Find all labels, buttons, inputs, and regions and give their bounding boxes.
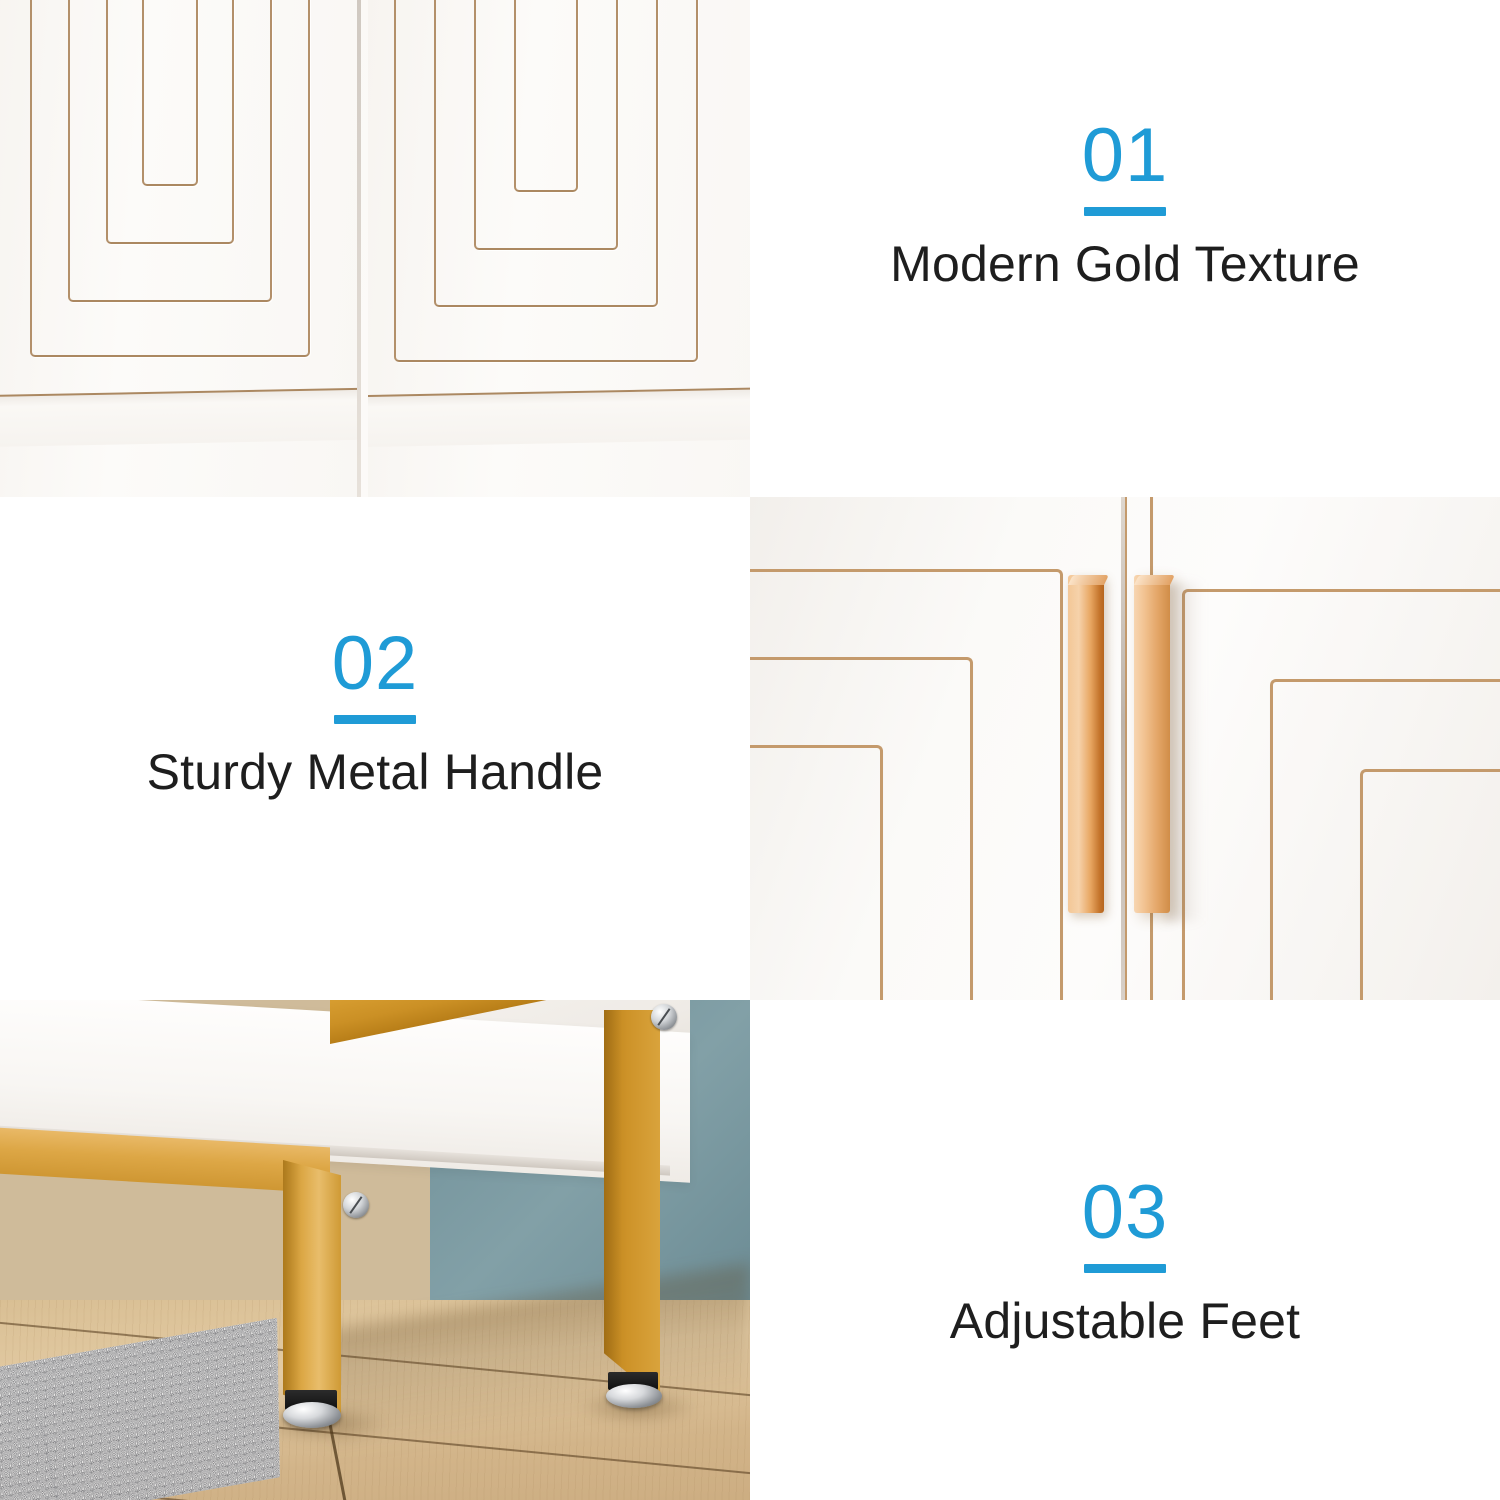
feature-number-03-wrap: 03 [1082,1175,1169,1273]
feature-number-underline [1084,207,1167,216]
feature-number-03: 03 [1082,1175,1169,1251]
door-center-seam [1121,497,1125,1000]
door-center-seam [357,0,361,497]
feature-number-02-wrap: 02 [332,626,419,724]
handle-cast-shadow [1165,583,1203,921]
feature-number-02: 02 [332,626,419,702]
leg-screw-front [343,1192,369,1218]
cabinet-door-left [0,0,358,497]
handle-scene [750,497,1500,1000]
photo-adjustable-feet [0,1000,750,1500]
feature-number-01: 01 [1082,118,1169,194]
leg-screw-back [651,1004,677,1030]
metal-handle-right [1134,575,1170,913]
door-bottom-rail [368,387,750,447]
caption-block-02: 02 Sturdy Metal Handle [0,497,750,1000]
adjustable-foot-back [606,1384,662,1408]
caption-block-03: 03 Adjustable Feet [750,1000,1500,1500]
feature-number-underline [334,715,417,724]
feature-number-01-wrap: 01 [1082,118,1169,216]
feature-title-03: Adjustable Feet [750,1293,1500,1351]
photo-sturdy-metal-handle [750,497,1500,1000]
infographic-page: 01 Modern Gold Texture 02 Sturdy Metal H… [0,0,1500,1500]
cabinet-door-right [368,0,750,497]
caption-block-01: 01 Modern Gold Texture [750,0,1500,497]
door-bottom-rail [0,388,358,447]
adjustable-foot-front [283,1402,341,1428]
feature-title-02: Sturdy Metal Handle [0,744,750,802]
cabinet-door-scene [0,0,750,497]
gold-leg-back [604,1010,660,1400]
adjustable-feet-scene [0,1000,750,1500]
gold-leg-front [283,1160,341,1415]
feature-title-01: Modern Gold Texture [750,236,1500,294]
feature-number-underline [1084,1264,1167,1273]
metal-handle-left [1068,575,1104,913]
photo-modern-gold-texture [0,0,750,497]
